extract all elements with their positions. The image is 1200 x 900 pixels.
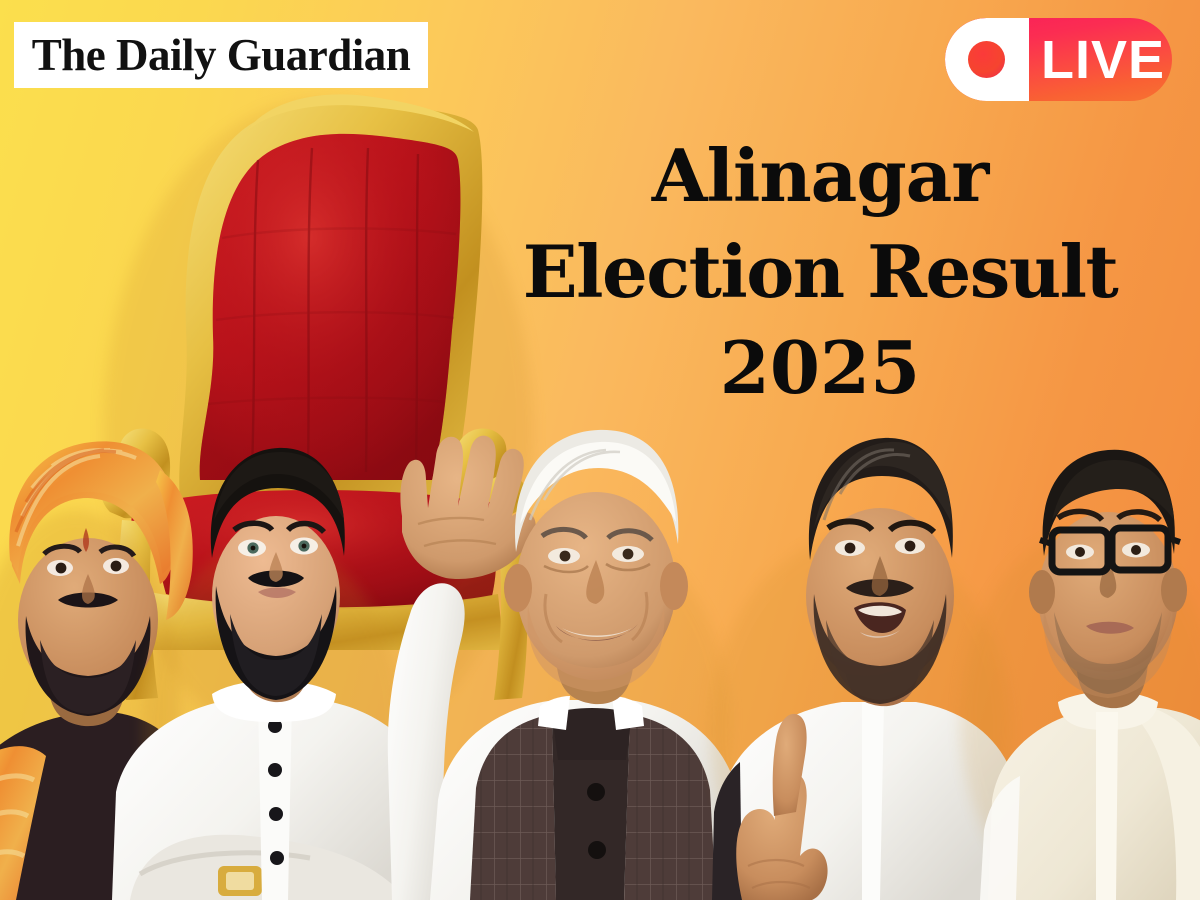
fig5-ear-left [1029, 570, 1055, 614]
headline-line-1: Alinagar [460, 140, 1180, 212]
news-graphic-canvas: Alinagar Election Result 2025 The Daily … [0, 0, 1200, 900]
headline-line-3: 2025 [460, 332, 1180, 404]
live-badge[interactable]: LIVE [945, 18, 1172, 101]
fig3-ear-right [660, 562, 688, 610]
fig5-ear-right [1161, 568, 1187, 612]
artwork-layer [0, 0, 1200, 900]
politician-glasses [960, 450, 1200, 900]
record-dot-icon [968, 41, 1005, 78]
publication-logo-text: The Daily Guardian [32, 33, 411, 78]
fig3-ear-left [504, 564, 532, 612]
headline-block: Alinagar Election Result 2025 [460, 140, 1180, 404]
publication-logo[interactable]: The Daily Guardian [14, 22, 428, 88]
live-badge-label: LIVE [1041, 18, 1165, 101]
politician-waving-elder [388, 430, 744, 900]
live-badge-white-cap [945, 18, 1029, 101]
headline-line-2: Election Result [460, 236, 1180, 308]
